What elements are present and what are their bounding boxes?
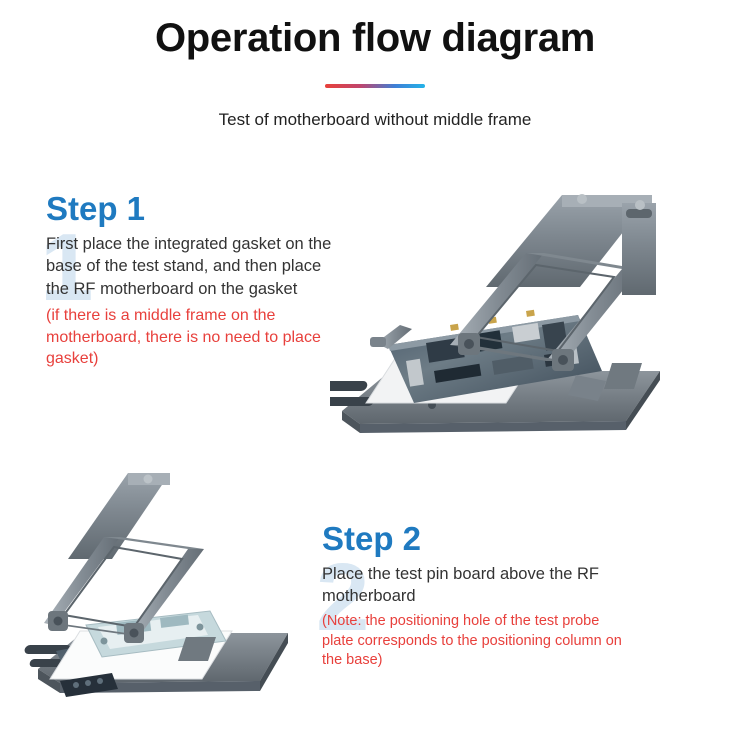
step-2-note: (Note: the positioning hole of the test … (322, 612, 622, 671)
test-stand-with-motherboard-illustration (330, 175, 730, 445)
step-2-block: 2 Step 2 Place the test pin board above … (322, 522, 622, 671)
page-title: Operation flow diagram (0, 16, 750, 61)
test-stand-with-pin-board-illustration (20, 455, 320, 720)
page-subtitle: Test of motherboard without middle frame (0, 110, 750, 130)
accent-divider (325, 84, 425, 88)
step-1-note: (if there is a middle frame on the mothe… (46, 305, 346, 370)
step-2-heading: Step 2 (322, 522, 622, 557)
step-1-heading: Step 1 (46, 192, 346, 227)
diagram-page: Operation flow diagram Test of motherboa… (0, 0, 750, 750)
step-1-body: First place the integrated gasket on the… (46, 233, 346, 301)
step-1-block: 1 Step 1 First place the integrated gask… (46, 192, 346, 370)
step-2-body: Place the test pin board above the RF mo… (322, 563, 622, 609)
